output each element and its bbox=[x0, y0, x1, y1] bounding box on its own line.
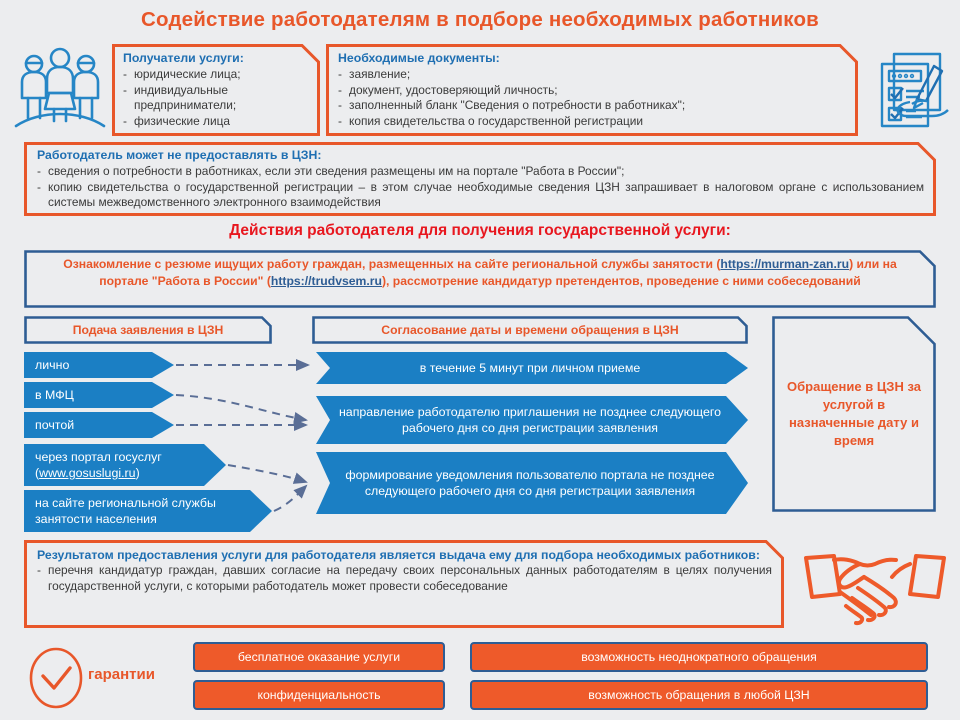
check-circle-icon bbox=[28, 646, 84, 710]
list-item: -копия свидетельства о государственной р… bbox=[338, 114, 849, 130]
gosuslugi-link[interactable]: www.gosuslugi.ru bbox=[39, 466, 135, 480]
dash-marker: - bbox=[123, 67, 134, 83]
submit-option-label: лично bbox=[35, 357, 69, 373]
dash-marker: - bbox=[123, 83, 134, 114]
list-item: -документ, удостоверяющий личность; bbox=[338, 83, 849, 99]
checklist-hand-pen-icon bbox=[872, 44, 956, 136]
result-heading: Результатом предоставления услуги для ра… bbox=[37, 547, 772, 563]
guarantee-repeat-applications[interactable]: возможность неоднократного обращения bbox=[470, 642, 928, 672]
documents-heading: Необходимые документы: bbox=[338, 51, 849, 65]
list-item: -сведения о потребности в работниках, ес… bbox=[37, 164, 924, 180]
trudvsem-link[interactable]: https://trudvsem.ru bbox=[271, 274, 382, 288]
recipients-box: Получатели услуги: -юридические лица; -и… bbox=[112, 44, 320, 136]
section-title-actions: Действия работодателя для получения госу… bbox=[0, 222, 960, 240]
may-not-provide-heading: Работодатель может не предоставлять в ЦЗ… bbox=[37, 148, 924, 162]
dash-marker: - bbox=[37, 164, 48, 180]
submit-option-in-person[interactable]: лично bbox=[24, 352, 174, 378]
submit-option-gosuslugi[interactable]: через портал госуслуг (www.gosuslugi.ru) bbox=[24, 444, 226, 486]
murman-zan-link[interactable]: https://murman-zan.ru bbox=[720, 257, 849, 271]
agree-step-invitation[interactable]: направление работодателю приглашения не … bbox=[316, 396, 748, 444]
submit-option-label: через портал госуслуг bbox=[35, 450, 162, 464]
list-item: -индивидуальные предприниматели; bbox=[123, 83, 311, 114]
agree-step-label: формирование уведомления пользователю по… bbox=[338, 467, 722, 499]
list-item: -копию свидетельства о государственной р… bbox=[37, 180, 924, 211]
guarantee-any-czn[interactable]: возможность обращения в любой ЦЗН bbox=[470, 680, 928, 710]
familiarization-text-part3: ), рассмотрение кандидатур претендентов,… bbox=[382, 274, 861, 288]
list-item: -заполненный бланк "Сведения о потребнос… bbox=[338, 98, 849, 114]
dash-marker: - bbox=[37, 563, 48, 594]
list-item: -заявление; bbox=[338, 67, 849, 83]
guarantees-label: гарантии bbox=[88, 666, 155, 683]
dash-marker: - bbox=[338, 98, 349, 114]
recipients-heading: Получатели услуги: bbox=[123, 51, 311, 65]
handshake-icon bbox=[800, 548, 950, 628]
submit-application-heading: Подача заявления в ЦЗН bbox=[24, 316, 272, 344]
submit-option-label: почтой bbox=[35, 417, 74, 433]
submit-option-mail[interactable]: почтой bbox=[24, 412, 174, 438]
agree-datetime-heading: Согласование даты и времени обращения в … bbox=[312, 316, 748, 344]
agree-datetime-heading-box: Согласование даты и времени обращения в … bbox=[312, 316, 748, 344]
submit-option-regional-site[interactable]: на сайте региональной службы занятости н… bbox=[24, 490, 272, 532]
page-title: Содействие работодателям в подборе необх… bbox=[0, 8, 960, 32]
dash-marker: - bbox=[123, 114, 134, 130]
list-item: -физические лица bbox=[123, 114, 311, 130]
submit-option-label: в МФЦ bbox=[35, 387, 74, 403]
guarantee-confidentiality[interactable]: конфиденциальность bbox=[193, 680, 445, 710]
submit-option-gosuslugi-text: через портал госуслуг (www.gosuslugi.ru) bbox=[35, 449, 162, 481]
documents-box: Необходимые документы: -заявление; -доку… bbox=[326, 44, 858, 136]
appeal-panel-text: Обращение в ЦЗН за услугой в назначенные… bbox=[772, 316, 936, 512]
may-not-provide-box: Работодатель может не предоставлять в ЦЗ… bbox=[24, 142, 936, 216]
submit-option-label: на сайте региональной службы занятости н… bbox=[35, 495, 246, 527]
infographic-root: Содействие работодателям в подборе необх… bbox=[0, 0, 960, 720]
dash-marker: - bbox=[37, 180, 48, 211]
list-item: -юридические лица; bbox=[123, 67, 311, 83]
agree-step-label: направление работодателю приглашения не … bbox=[338, 404, 722, 436]
agree-step-notification[interactable]: формирование уведомления пользователю по… bbox=[316, 452, 748, 514]
result-box: Результатом предоставления услуги для ра… bbox=[24, 540, 784, 628]
agree-step-label: в течение 5 минут при личном приеме bbox=[420, 360, 641, 376]
dash-marker: - bbox=[338, 67, 349, 83]
result-item: -перечня кандидатур граждан, давших согл… bbox=[37, 563, 772, 594]
people-group-icon bbox=[8, 44, 112, 136]
familiarization-text-part1: Ознакомление с резюме ищущих работу граж… bbox=[63, 257, 720, 271]
appeal-panel: Обращение в ЦЗН за услугой в назначенные… bbox=[772, 316, 936, 512]
paren-close: ) bbox=[136, 466, 140, 480]
familiarization-box: Ознакомление с резюме ищущих работу граж… bbox=[24, 250, 936, 308]
agree-step-5-minutes[interactable]: в течение 5 минут при личном приеме bbox=[316, 352, 748, 384]
dash-marker: - bbox=[338, 114, 349, 130]
guarantee-free-service[interactable]: бесплатное оказание услуги bbox=[193, 642, 445, 672]
submit-option-mfc[interactable]: в МФЦ bbox=[24, 382, 174, 408]
submit-application-heading-box: Подача заявления в ЦЗН bbox=[24, 316, 272, 344]
dash-marker: - bbox=[338, 83, 349, 99]
